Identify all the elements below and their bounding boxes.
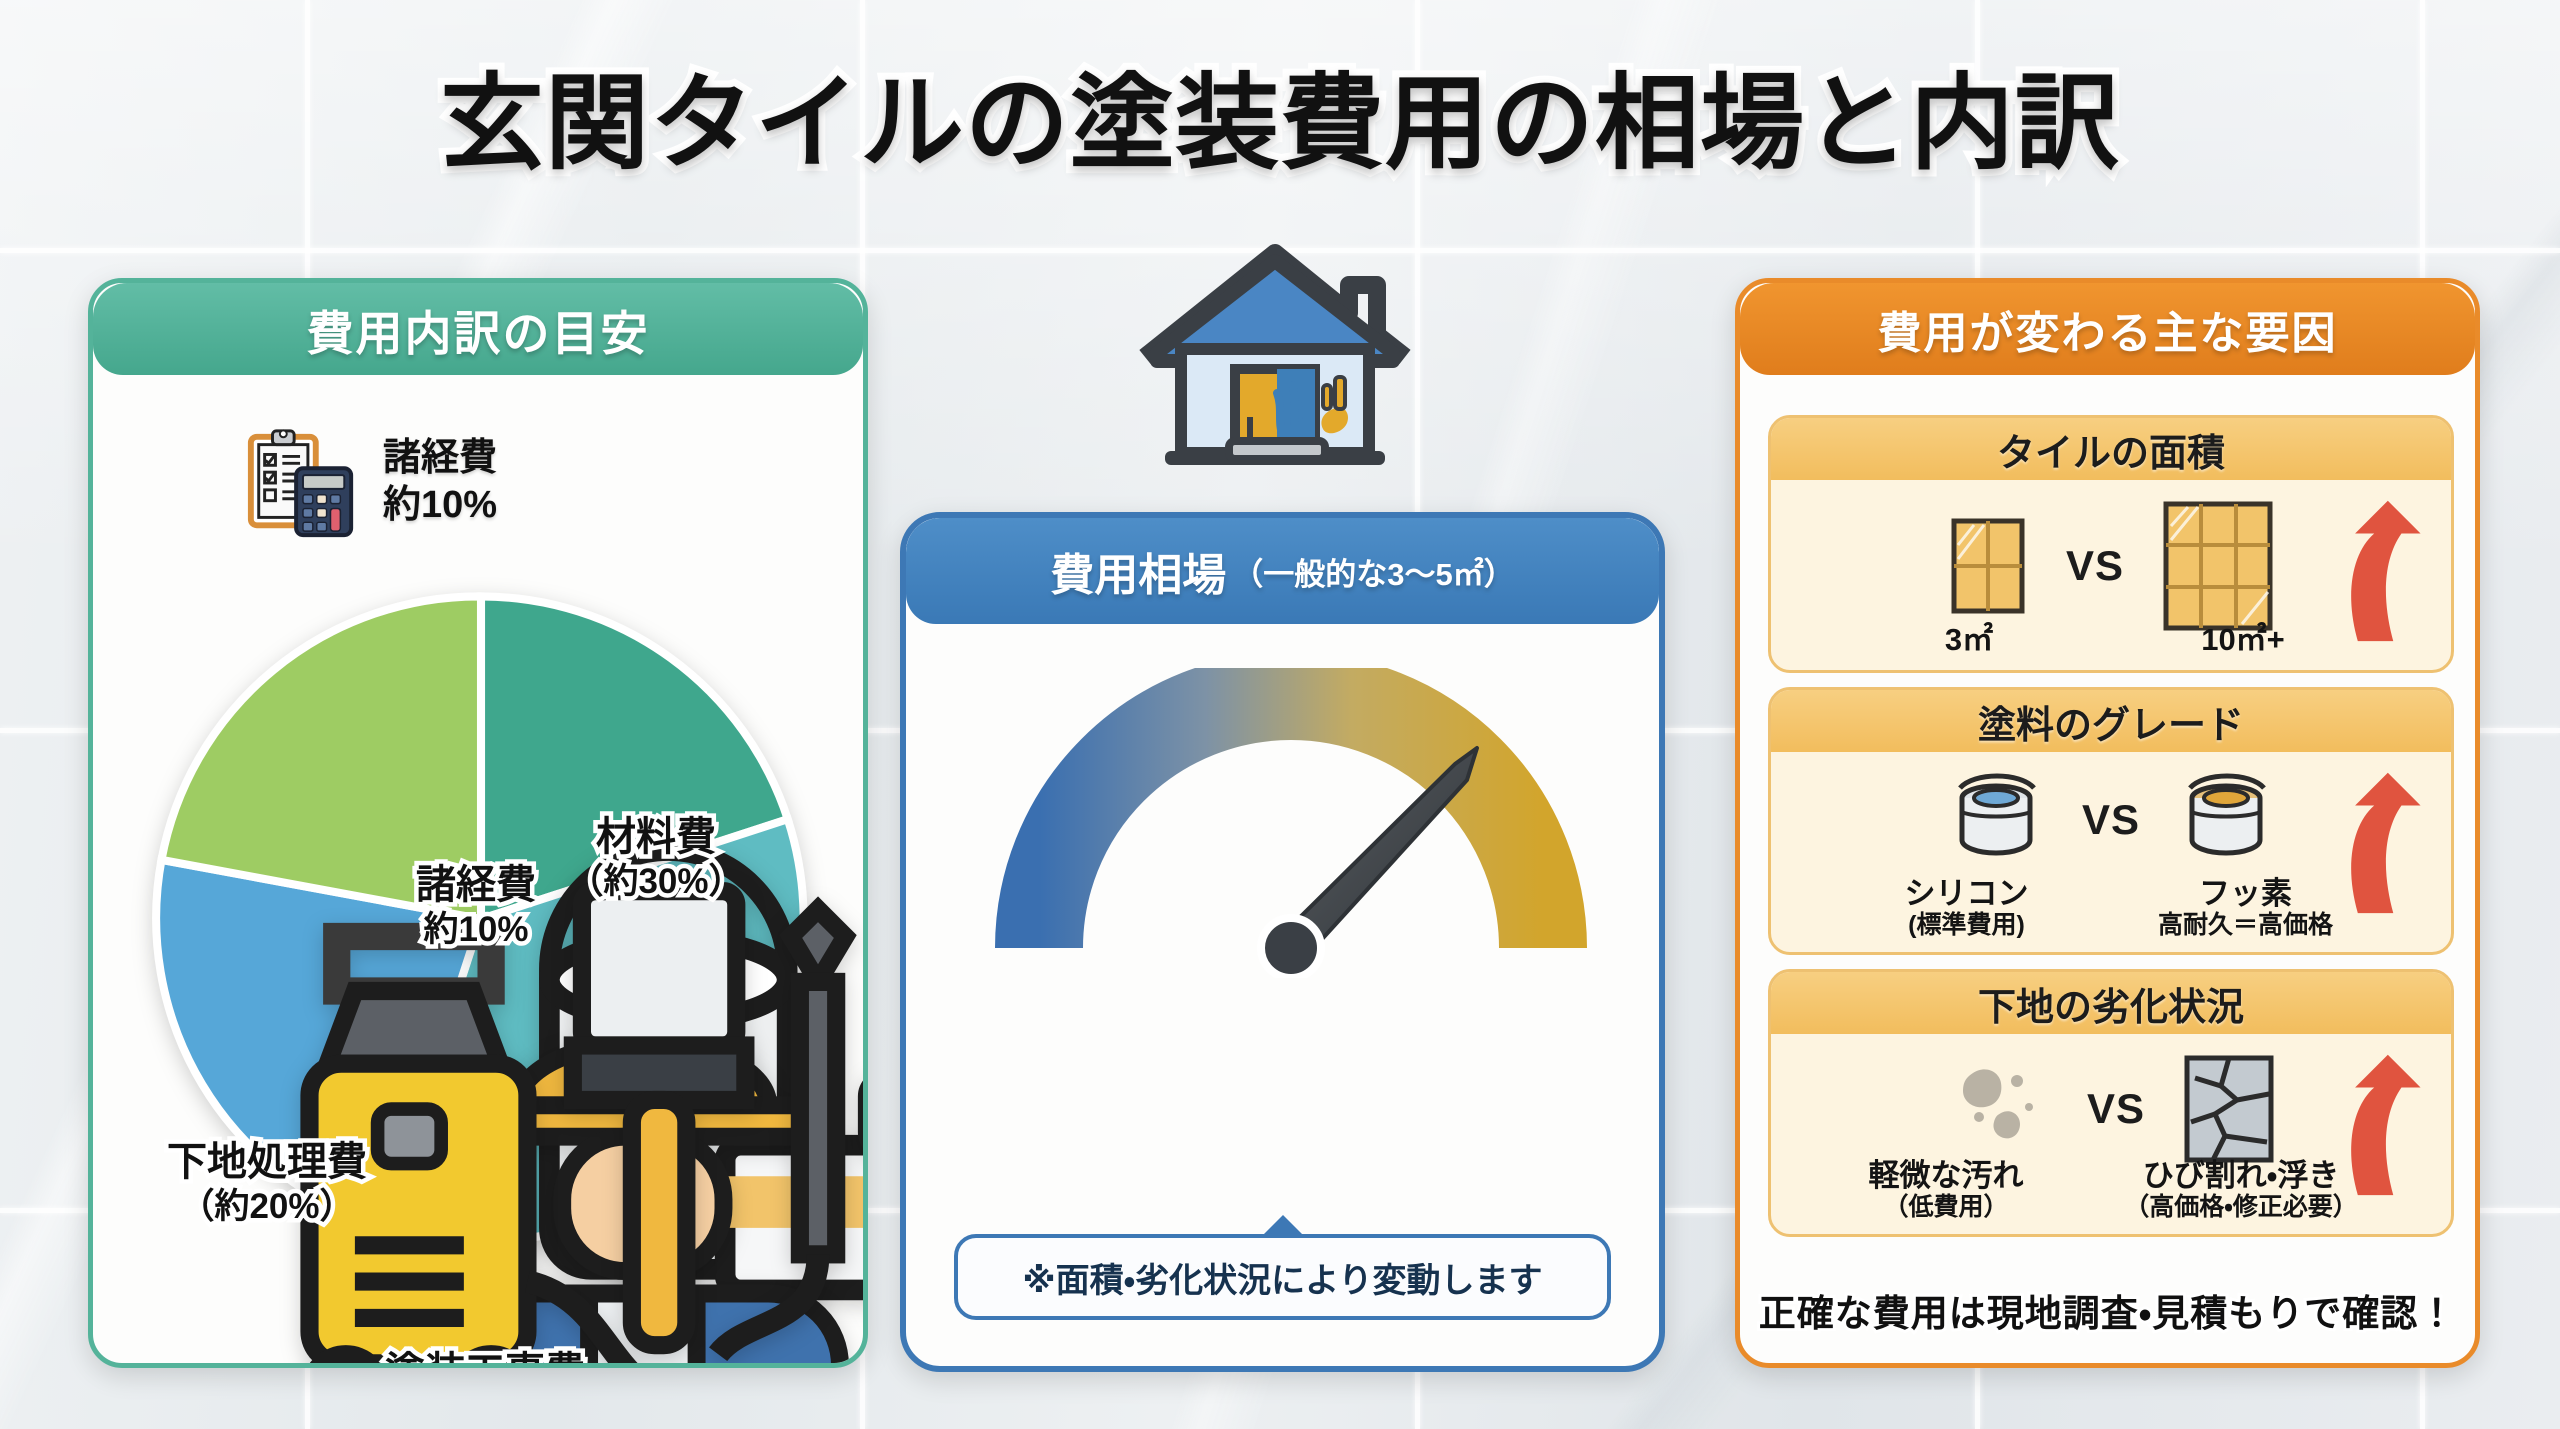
factor-title: タイルの面積 xyxy=(1771,418,2451,480)
vs-label: VS xyxy=(2082,796,2140,844)
factor-left-caption: シリコン (標準費用) xyxy=(1859,876,2074,940)
small-tile-grid-icon xyxy=(1944,511,2032,621)
cracked-tile-icon xyxy=(2179,1050,2279,1168)
factor-left-caption: 3㎡ xyxy=(1864,622,2074,658)
light-stain-icon xyxy=(1943,1059,2053,1159)
price-range-panel: 費用相場（一般的な3〜5㎡） 5 万円 〜 15 万円 (税込目安) xyxy=(900,512,1665,1372)
factor-right-caption: 10㎡+ xyxy=(2128,622,2358,658)
vs-label: VS xyxy=(2087,1085,2145,1133)
house-with-painted-door-icon xyxy=(1125,225,1425,495)
page-title: 玄関タイルの塗装費用の相場と内訳 xyxy=(0,38,2560,189)
factor-title: 塗料のグレード xyxy=(1771,690,2451,752)
large-tile-grid-icon xyxy=(2158,496,2278,636)
factor-right-caption: フッ素 高耐久＝高価格 xyxy=(2128,876,2363,940)
price-range-header-main: 費用相場 xyxy=(1050,539,1226,603)
vs-label: VS xyxy=(2066,542,2124,590)
cost-breakdown-header: 費用内訳の目安 xyxy=(93,283,863,375)
pie-label-painting: 塗装工事費 （約40%） xyxy=(325,1348,645,1368)
legend-overhead: 諸経費 約10% xyxy=(243,423,497,541)
price-range-header-sub: （一般的な3〜5㎡） xyxy=(1232,549,1514,594)
factor-title: 下地の劣化状況 xyxy=(1771,972,2451,1034)
factor-captions: シリコン (標準費用) フッ素 高耐久＝高価格 xyxy=(1771,876,2451,940)
gauge-arc xyxy=(1039,696,1543,948)
legend-overhead-text: 諸経費 約10% xyxy=(383,435,497,529)
factor-right-caption: ひび割れ・浮き （高価格・修正必要） xyxy=(2091,1158,2391,1222)
fluorine-paint-can-icon xyxy=(2174,768,2278,872)
factor-paint-grade: 塗料のグレード VS xyxy=(1768,687,2454,955)
price-range-header: 費用相場（一般的な3〜5㎡） xyxy=(906,518,1659,624)
legend-overhead-line1: 諸経費 xyxy=(383,437,497,479)
gauge-needle xyxy=(1261,748,1477,978)
price-gauge xyxy=(986,668,1596,978)
cost-factors-header: 費用が変わる主な要因 xyxy=(1740,283,2475,375)
pie-label-prep: 下地処理費 （約20%） xyxy=(117,1138,417,1228)
factor-substrate-condition: 下地の劣化状況 VS xyxy=(1768,969,2454,1237)
legend-overhead-line2: 約10% xyxy=(383,484,497,526)
factor-tile-area: タイルの面積 VS 3㎡ xyxy=(1768,415,2454,673)
factor-captions: 3㎡ 10㎡+ xyxy=(1771,622,2451,658)
silicon-paint-can-icon xyxy=(1944,768,2048,872)
cost-breakdown-panel: 費用内訳の目安 諸経費 xyxy=(88,278,868,1368)
factor-left-caption: 軽微な汚れ （低費用） xyxy=(1831,1158,2061,1222)
cost-factors-footer: 正確な費用は現地調査・見積もりで確認！ xyxy=(1740,1283,2475,1337)
cost-factors-panel: 費用が変わる主な要因 タイルの面積 VS xyxy=(1735,278,2480,1368)
price-note: ※面積・劣化状況により変動します xyxy=(954,1234,1611,1320)
factor-captions: 軽微な汚れ （低費用） ひび割れ・浮き （高価格・修正必要） xyxy=(1771,1158,2451,1222)
clipboard-calculator-icon xyxy=(243,423,361,541)
pie-label-overhead: 諸経費 約10% xyxy=(361,861,591,951)
